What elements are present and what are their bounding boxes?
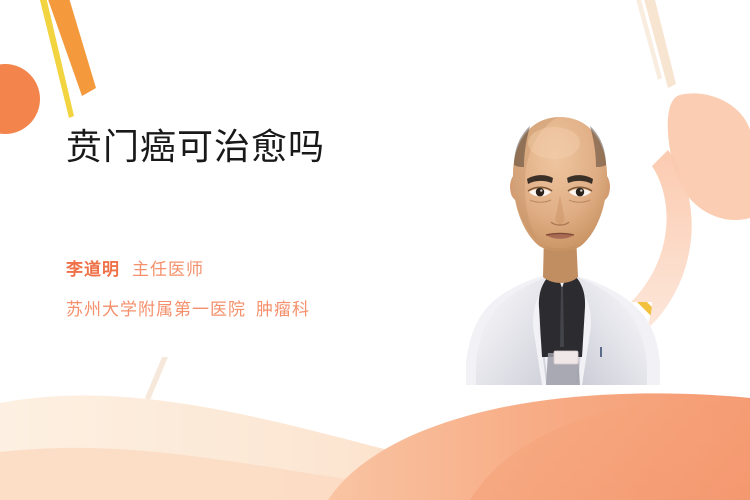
- doctor-department: 肿瘤科: [256, 300, 310, 319]
- doctor-head: [510, 117, 610, 251]
- doctor-portrait: [430, 95, 680, 385]
- doctor-name: 李道明: [66, 260, 120, 279]
- page-title: 贲门癌可治愈吗: [66, 118, 325, 170]
- wave-deep: [470, 397, 750, 500]
- top-right-stripes: [633, 0, 676, 88]
- wave-light: [0, 395, 750, 500]
- doctor-info-card: 贲门癌可治愈吗 李道明主任医师 苏州大学附属第一医院肿瘤科: [0, 0, 750, 500]
- doctor-affiliation-row: 苏州大学附属第一医院肿瘤科: [66, 290, 310, 330]
- white-coat: [466, 271, 660, 385]
- wave-mid: [0, 448, 750, 500]
- faint-stripe-bottom-left: [145, 357, 168, 400]
- top-left-stripes: [37, 0, 96, 118]
- orange-circle-accent: [0, 64, 40, 134]
- peach-blob-top-right: [668, 93, 750, 220]
- doctor-title: 主任医师: [132, 260, 204, 279]
- wave-strong: [328, 393, 750, 500]
- doctor-hospital: 苏州大学附属第一医院: [66, 300, 246, 319]
- doctor-credit-block: 李道明主任医师 苏州大学附属第一医院肿瘤科: [66, 250, 310, 330]
- doctor-name-row: 李道明主任医师: [66, 250, 310, 290]
